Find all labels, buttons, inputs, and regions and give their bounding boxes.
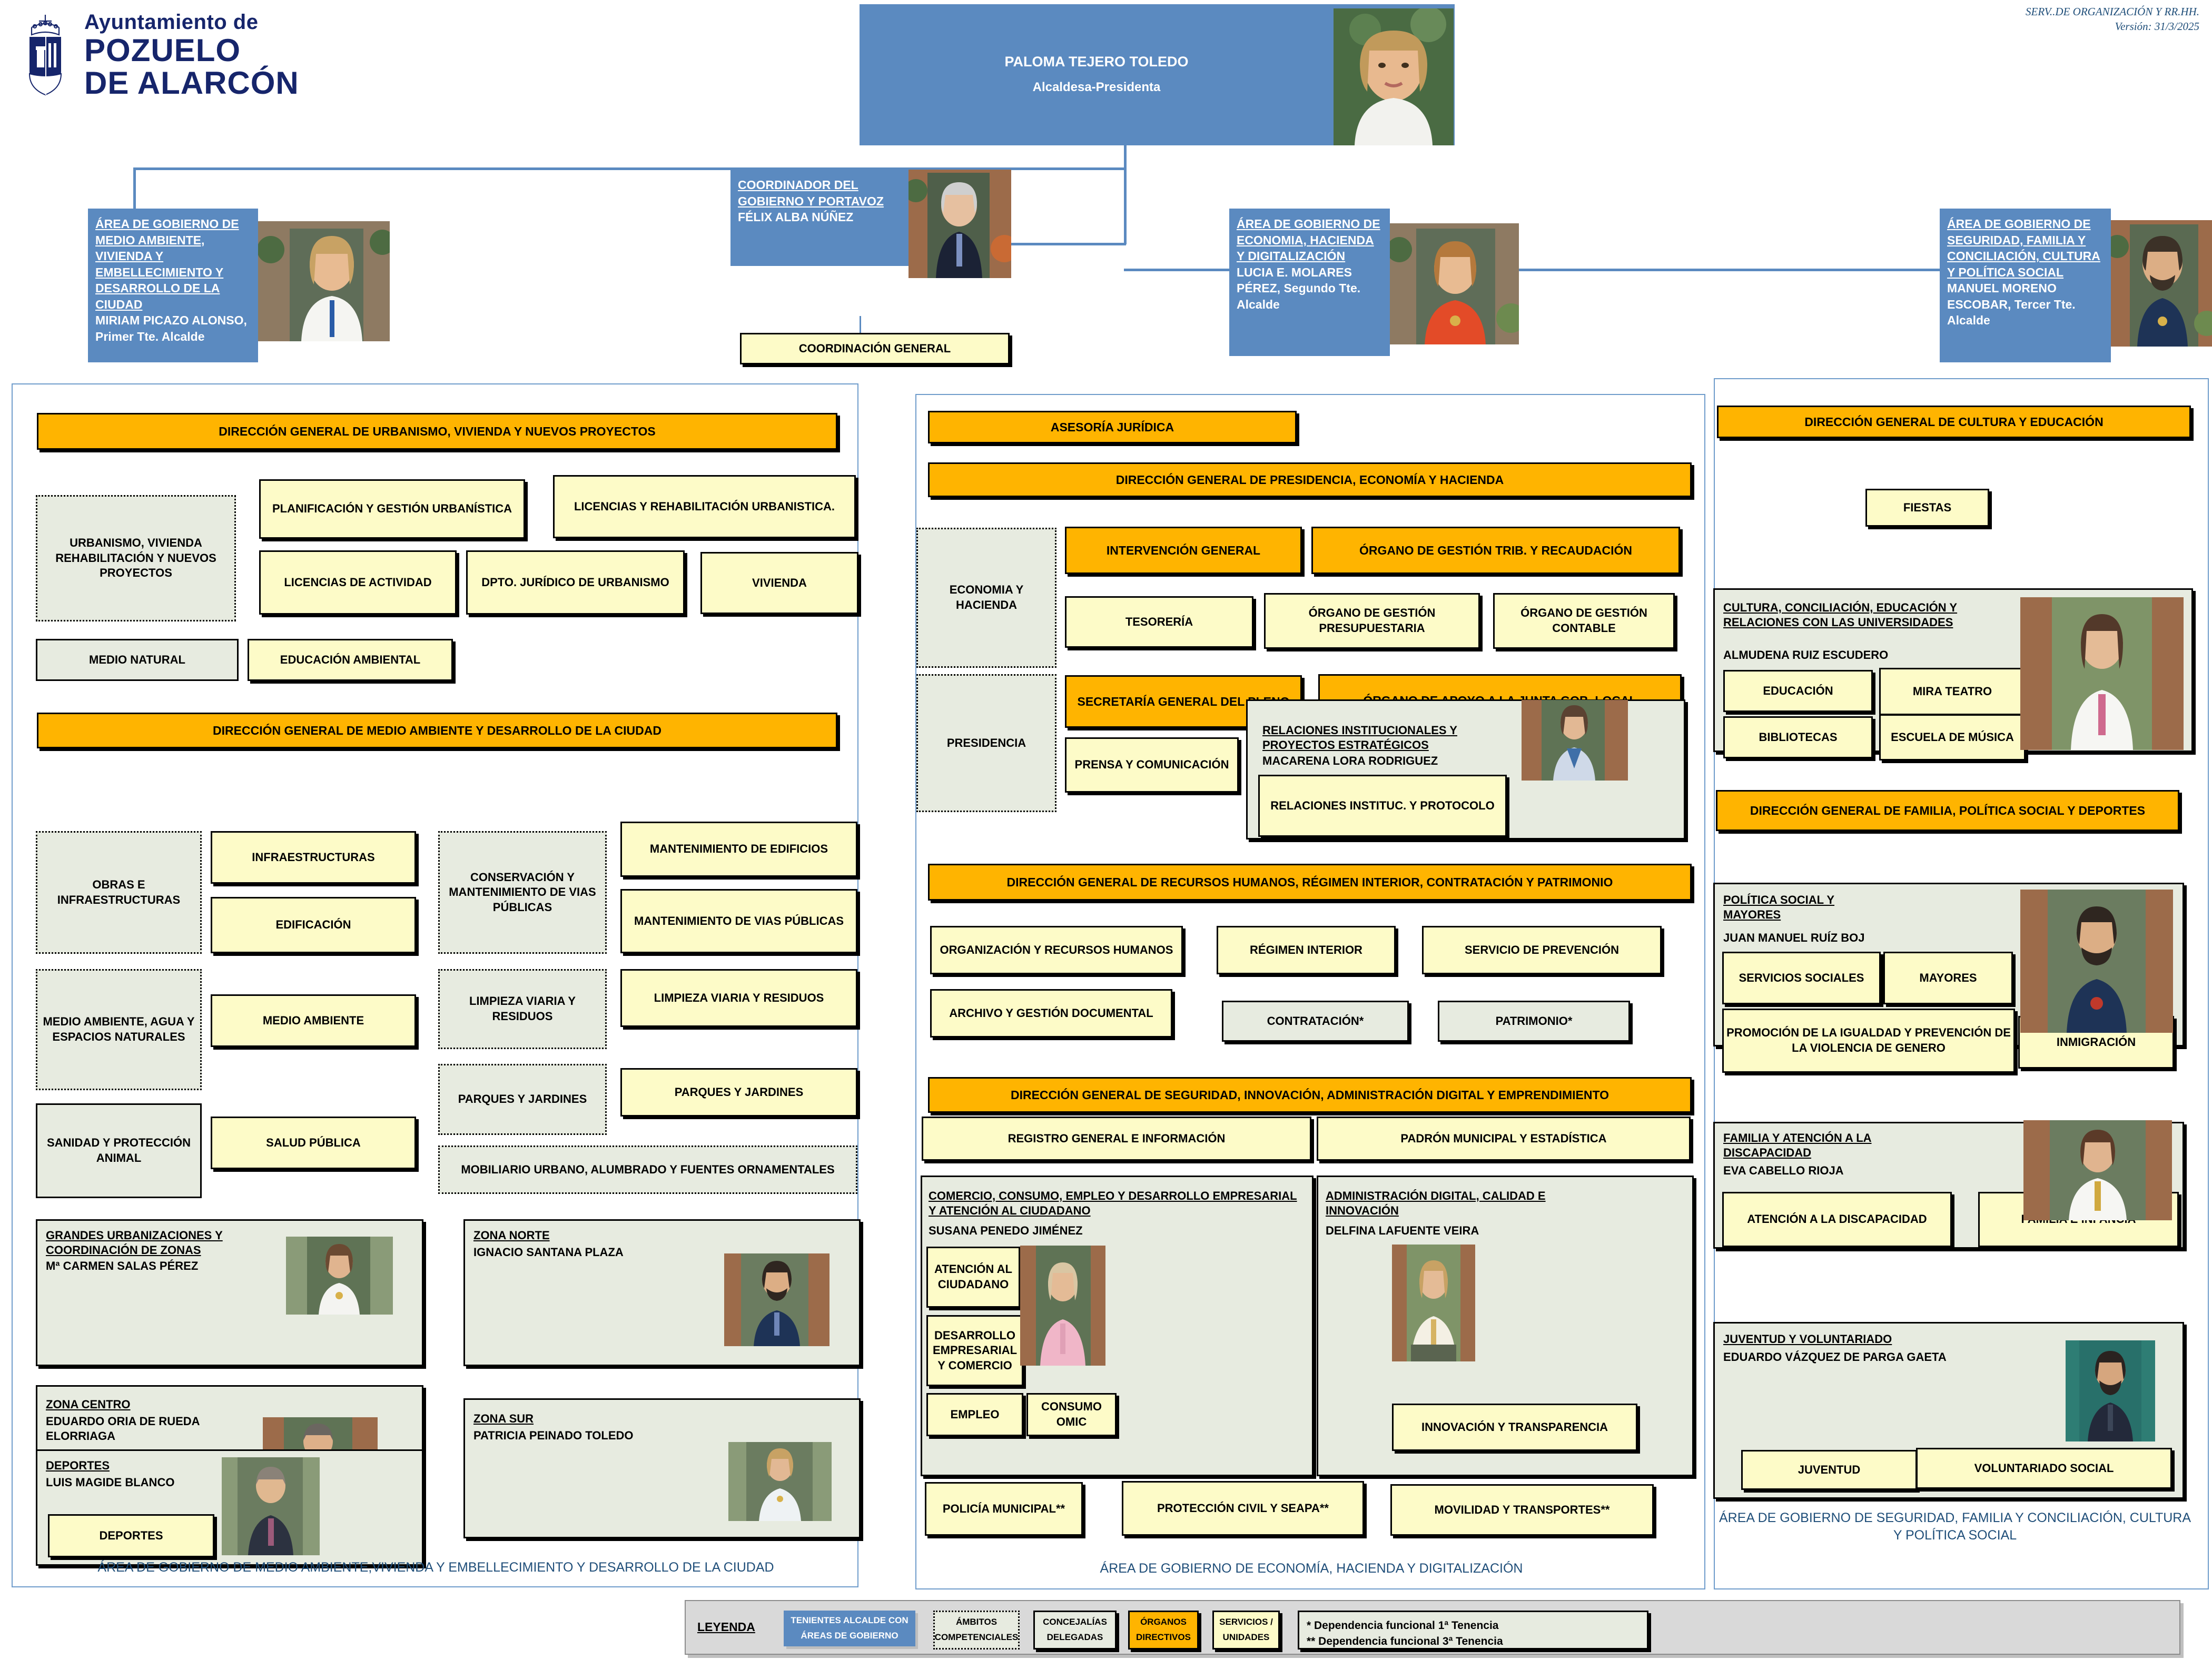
concejalia-admin-digital-photo <box>1392 1245 1475 1361</box>
concejalia-comercio-photo <box>1020 1246 1105 1366</box>
ambito-parques-jardines: PARQUES Y JARDINES <box>438 1064 607 1135</box>
unit-regimen-interior[interactable]: RÉGIMEN INTERIOR <box>1217 926 1396 974</box>
mayor-name: PALOMA TEJERO TOLEDO <box>860 48 1334 75</box>
unit-proteccion-civil[interactable]: PROTECCIÓN CIVIL Y SEAPA** <box>1122 1481 1364 1536</box>
concejalia-politica-social[interactable]: POLÍTICA SOCIAL Y MAYORES JUAN MANUEL RU… <box>1713 883 2184 1046</box>
portrait-placeholder-icon <box>2023 1120 2172 1220</box>
concejalia-deportes-photo <box>222 1457 320 1555</box>
concejalia-politica-social-title: POLÍTICA SOCIAL Y MAYORES <box>1723 893 1865 922</box>
portrait-placeholder-icon <box>258 221 390 341</box>
dg-urbanismo-header[interactable]: DIRECCIÓN GENERAL DE URBANISMO, VIVIENDA… <box>37 413 837 450</box>
legend-ambitos: ÁMBITOS COMPETENCIALES <box>933 1611 1020 1650</box>
unit-atencion-discapacidad[interactable]: ATENCIÓN A LA DISCAPACIDAD <box>1722 1192 1952 1247</box>
unit-educacion[interactable]: EDUCACIÓN <box>1723 670 1873 712</box>
unit-servicios-sociales[interactable]: SERVICIOS SOCIALES <box>1722 952 1881 1004</box>
concejalia-juventud-name: EDUARDO VÁZQUEZ DE PARGA GAETA <box>1723 1350 1947 1365</box>
unit-infraestructuras[interactable]: INFRAESTRUCTURAS <box>211 831 416 884</box>
dg-seguridad-header[interactable]: DIRECCIÓN GENERAL DE SEGURIDAD, INNOVACI… <box>928 1077 1692 1113</box>
unit-educacion-ambiental[interactable]: EDUCACIÓN AMBIENTAL <box>248 639 453 681</box>
dg-cultura-header[interactable]: DIRECCIÓN GENERAL DE CULTURA Y EDUCACIÓN <box>1717 406 2191 438</box>
dg-familia-header[interactable]: DIRECCIÓN GENERAL DE FAMILIA, POLÍTICA S… <box>1716 790 2179 831</box>
unit-archivo-gestion-documental[interactable]: ARCHIVO Y GESTIÓN DOCUMENTAL <box>930 989 1172 1038</box>
portrait-placeholder-icon <box>908 170 1011 278</box>
unit-gestion-presupuestaria[interactable]: ÓRGANO DE GESTIÓN PRESUPUESTARIA <box>1264 593 1480 649</box>
unit-limpieza-viaria[interactable]: LIMPIEZA VIARIA Y RESIDUOS <box>620 969 857 1027</box>
concejalia-relaciones-title: RELACIONES INSTITUCIONALES Y PROYECTOS E… <box>1262 723 1520 753</box>
concejalia-comercio-consumo[interactable]: COMERCIO, CONSUMO, EMPLEO Y DESARROLLO E… <box>921 1176 1314 1476</box>
logo-line2: POZUELO <box>84 35 299 66</box>
mayor-info: PALOMA TEJERO TOLEDO Alcaldesa-President… <box>860 48 1334 100</box>
unit-organizacion-rrhh[interactable]: ORGANIZACIÓN Y RECURSOS HUMANOS <box>930 926 1183 974</box>
legend-organos: ÓRGANOS DIRECTIVOS <box>1128 1611 1199 1650</box>
brand-logo: Ayuntamiento de POZUELO DE ALARCÓN <box>16 12 299 99</box>
mayor-card: PALOMA TEJERO TOLEDO Alcaldesa-President… <box>860 4 1455 145</box>
unit-consumo-omic[interactable]: CONSUMO OMIC <box>1026 1393 1117 1436</box>
ambito-contratacion: CONTRATACIÓN* <box>1222 1001 1409 1042</box>
logo-line3: DE ALARCÓN <box>84 67 299 99</box>
portrait-placeholder-icon <box>222 1457 320 1555</box>
dg-rrhh-header[interactable]: DIRECCIÓN GENERAL DE RECURSOS HUMANOS, R… <box>928 864 1692 901</box>
unit-desarrollo-empresarial[interactable]: DESARROLLO EMPRESARIAL Y COMERCIO <box>926 1315 1023 1386</box>
portrait-placeholder-icon <box>2020 890 2173 1033</box>
concejalia-grandes-urb-name: Mª CARMEN SALAS PÉREZ <box>46 1259 278 1273</box>
area-economia-photo <box>1390 223 1519 344</box>
legend-tenientes: TENIENTES ALCALDE CON ÁREAS DE GOBIERNO <box>784 1611 915 1646</box>
unit-juventud[interactable]: JUVENTUD <box>1741 1450 1917 1490</box>
concejalia-grandes-urb-title: GRANDES URBANIZACIONES Y COORDINACIÓN DE… <box>46 1228 278 1258</box>
unit-parques-jardines[interactable]: PARQUES Y JARDINES <box>620 1068 857 1117</box>
concejalia-juventud-voluntariado[interactable]: JUVENTUD Y VOLUNTARIADO EDUARDO VÁZQUEZ … <box>1713 1322 2184 1499</box>
concejalia-deportes-container[interactable]: DEPORTES LUIS MAGIDE BLANCO DEPORTES <box>36 1449 423 1566</box>
concejalia-relaciones-name: MACARENA LORA RODRIGUEZ <box>1262 754 1438 768</box>
ambito-limpieza-viaria: LIMPIEZA VIARIA Y RESIDUOS <box>438 969 607 1049</box>
portrait-placeholder-icon <box>1334 8 1454 145</box>
area-medio-ambiente-photo <box>258 221 390 341</box>
concejalia-zona-norte-photo <box>724 1253 829 1346</box>
portrait-placeholder-icon <box>2020 597 2184 750</box>
ambito-patrimonio: PATRIMONIO* <box>1438 1001 1630 1042</box>
concejalia-cultura-name: ALMUDENA RUIZ ESCUDERO <box>1723 648 1888 663</box>
legend-servicios: SERVICIOS / UNIDADES <box>1212 1611 1280 1650</box>
ambito-medio-natural: MEDIO NATURAL <box>36 639 239 681</box>
area-coordinador-person: FÉLIX ALBA NÚÑEZ <box>738 209 903 225</box>
concejalia-familia-name: EVA CABELLO RIOJA <box>1723 1163 1844 1178</box>
unit-mantenimiento-vias[interactable]: MANTENIMIENTO DE VIAS PÚBLICAS <box>620 889 857 953</box>
unit-salud-publica[interactable]: SALUD PÚBLICA <box>211 1117 416 1169</box>
concejalia-cultura-photo <box>2020 597 2184 750</box>
portrait-placeholder-icon <box>1392 1245 1475 1361</box>
asesoria-juridica-header[interactable]: ASESORÍA JURÍDICA <box>928 411 1297 443</box>
unit-licencias-actividad[interactable]: LICENCIAS DE ACTIVIDAD <box>259 550 457 615</box>
unit-vivienda[interactable]: VIVIENDA <box>700 552 858 614</box>
unit-fiestas[interactable]: FIESTAS <box>1865 489 1989 527</box>
legend-panel: LEYENDA TENIENTES ALCALDE CON ÁREAS DE G… <box>685 1600 2180 1655</box>
area-medio-ambiente-card: ÁREA DE GOBIERNO DE MEDIO AMBIENTE, VIVI… <box>88 209 258 362</box>
logo-line1: Ayuntamiento de <box>84 12 299 33</box>
concejalia-zona-sur-photo <box>728 1442 832 1521</box>
ambito-conservacion-vias: CONSERVACIÓN Y MANTENIMIENTO DE VIAS PÚB… <box>438 831 607 954</box>
concejalia-politica-social-photo <box>2020 890 2173 1033</box>
area-economia-person: LUCIA E. MOLARES PÉREZ, Segundo Tte. Alc… <box>1237 264 1385 313</box>
unit-padron-municipal[interactable]: PADRÓN MUNICIPAL Y ESTADÍSTICA <box>1317 1117 1691 1161</box>
concejalia-familia-discapacidad[interactable]: FAMILIA Y ATENCIÓN A LA DISCAPACIDAD EVA… <box>1713 1122 2184 1249</box>
concejalia-admin-digital-name: DELFINA LAFUENTE VEIRA <box>1326 1223 1479 1238</box>
portrait-placeholder-icon <box>286 1237 393 1315</box>
concejalia-zona-centro-title: ZONA CENTRO <box>46 1397 131 1412</box>
ambito-presidencia: PRESIDENCIA <box>916 674 1056 812</box>
concejalia-familia-photo <box>2023 1120 2172 1220</box>
concejalia-juventud-photo <box>2066 1340 2155 1441</box>
portrait-placeholder-icon <box>728 1442 832 1521</box>
unit-servicio-prevencion[interactable]: SERVICIO DE PREVENCIÓN <box>1422 926 1662 974</box>
concejalia-zona-sur-title: ZONA SUR <box>473 1411 534 1426</box>
unit-innovacion-transparencia[interactable]: INNOVACIÓN Y TRANSPARENCIA <box>1392 1404 1637 1451</box>
area-seguridad-person: MANUEL MORENO ESCOBAR, Tercer Tte. Alcal… <box>1947 280 2106 329</box>
unit-bibliotecas[interactable]: BIBLIOTECAS <box>1723 716 1873 758</box>
legend-notes: * Dependencia funcional 1ª Tenencia ** D… <box>1298 1611 1648 1650</box>
area-coordinador-photo <box>908 170 1011 278</box>
concejalia-deportes-title: DEPORTES <box>46 1458 110 1473</box>
unit-relaciones-protocolo[interactable]: RELACIONES INSTITUC. Y PROTOCOLO <box>1258 775 1507 837</box>
organo-intervencion-general[interactable]: INTERVENCIÓN GENERAL <box>1065 527 1302 574</box>
area-seguridad-photo <box>2111 220 2212 347</box>
concejalia-zona-sur-name: PATRICIA PEINADO TOLEDO <box>473 1428 634 1443</box>
portrait-placeholder-icon <box>724 1253 829 1346</box>
unit-dpto-juridico-urbanismo[interactable]: DPTO. JURÍDICO DE URBANISMO <box>466 550 685 615</box>
concejalia-admin-digital-title: ADMINISTRACIÓN DIGITAL, CALIDAD E INNOVA… <box>1326 1189 1568 1218</box>
unit-mantenimiento-edificios[interactable]: MANTENIMIENTO DE EDIFICIOS <box>620 822 857 877</box>
concejalia-grandes-urbanizaciones[interactable]: GRANDES URBANIZACIONES Y COORDINACIÓN DE… <box>36 1219 423 1366</box>
unit-tesoreria[interactable]: TESORERÍA <box>1065 596 1253 648</box>
unit-medio-ambiente[interactable]: MEDIO AMBIENTE <box>211 994 416 1047</box>
mayor-photo <box>1334 8 1454 145</box>
legend-label: LEYENDA <box>697 1620 755 1634</box>
ambito-economia-hacienda: ECONOMIA Y HACIENDA <box>916 528 1056 668</box>
portrait-placeholder-icon <box>1522 700 1628 781</box>
unit-mayores[interactable]: MAYORES <box>1883 952 2013 1004</box>
unit-edificacion[interactable]: EDIFICACIÓN <box>211 897 416 953</box>
area-coordinador-card: COORDINADOR DEL GOBIERNO Y PORTAVOZ FÉLI… <box>730 170 908 266</box>
portrait-placeholder-icon <box>1020 1246 1105 1366</box>
area-medio-ambiente-person: MIRIAM PICAZO ALONSO, Primer Tte. Alcald… <box>95 312 253 344</box>
ambito-medio-ambiente-agua: MEDIO AMBIENTE, AGUA Y ESPACIOS NATURALE… <box>36 969 202 1090</box>
legend-concejalias: CONCEJALÍAS DELEGADAS <box>1033 1611 1117 1650</box>
concejalia-relaciones-institucionales[interactable]: RELACIONES INSTITUCIONALES Y PROYECTOS E… <box>1246 699 1685 840</box>
unit-voluntariado-social[interactable]: VOLUNTARIADO SOCIAL <box>1916 1448 2172 1489</box>
coordinacion-general-unit[interactable]: COORDINACIÓN GENERAL <box>740 333 1010 364</box>
unit-gestion-contable[interactable]: ÓRGANO DE GESTIÓN CONTABLE <box>1493 593 1675 649</box>
concejalia-comercio-name: SUSANA PENEDO JIMÉNEZ <box>929 1223 1083 1238</box>
ambito-mobiliario-urbano: MOBILIARIO URBANO, ALUMBRADO Y FUENTES O… <box>438 1145 857 1194</box>
portrait-placeholder-icon <box>1390 223 1519 344</box>
area-coordinador-title: COORDINADOR DEL GOBIERNO Y PORTAVOZ <box>738 177 903 209</box>
legend-note-2: ** Dependencia funcional 3ª Tenencia <box>1307 1632 1503 1651</box>
unit-prensa-comunicacion[interactable]: PRENSA Y COMUNICACIÓN <box>1065 737 1239 793</box>
version-date: Versión: 31/3/2025 <box>2026 19 2199 34</box>
concejalia-zona-norte[interactable]: ZONA NORTE IGNACIO SANTANA PLAZA <box>463 1219 861 1366</box>
concejalia-zona-norte-title: ZONA NORTE <box>473 1228 550 1243</box>
pozuelo-crest-icon <box>16 12 75 98</box>
unit-policia-municipal[interactable]: POLICÍA MUNICIPAL** <box>925 1482 1083 1536</box>
concejalia-cultura-educacion[interactable]: CULTURA, CONCILIACIÓN, EDUCACIÓN Y RELAC… <box>1713 588 2193 752</box>
area-economia-card: ÁREA DE GOBIERNO DE ECONOMIA, HACIENDA Y… <box>1229 209 1390 356</box>
concejalia-zona-centro-name: EDUARDO ORIA DE RUEDA ELORRIAGA <box>46 1414 256 1444</box>
concejalia-zona-norte-name: IGNACIO SANTANA PLAZA <box>473 1245 624 1260</box>
area-medio-ambiente-title: ÁREA DE GOBIERNO DE MEDIO AMBIENTE, VIVI… <box>95 216 253 312</box>
unit-deportes[interactable]: DEPORTES <box>48 1514 214 1557</box>
dg-medio-ambiente-header[interactable]: DIRECCIÓN GENERAL DE MEDIO AMBIENTE Y DE… <box>37 713 837 748</box>
ambito-obras-infraestructuras: OBRAS E INFRAESTRUCTURAS <box>36 831 202 954</box>
unit-promocion-igualdad[interactable]: PROMOCIÓN DE LA IGUALDAD Y PREVENCIÓN DE… <box>1722 1009 2015 1073</box>
unit-planificacion-urbanistica[interactable]: PLANIFICACIÓN Y GESTIÓN URBANÍSTICA <box>259 479 525 539</box>
concejalia-cultura-title: CULTURA, CONCILIACIÓN, EDUCACIÓN Y RELAC… <box>1723 600 2018 630</box>
ambito-urbanismo: URBANISMO, VIVIENDA REHABILITACIÓN Y NUE… <box>36 495 236 621</box>
organo-gestion-tributaria[interactable]: ÓRGANO DE GESTIÓN TRIB. Y RECAUDACIÓN <box>1311 527 1680 574</box>
connector-to-coordinator <box>1124 167 1127 244</box>
concejalia-comercio-title: COMERCIO, CONSUMO, EMPLEO Y DESARROLLO E… <box>929 1189 1297 1218</box>
concejalia-juventud-title: JUVENTUD Y VOLUNTARIADO <box>1723 1332 1892 1347</box>
area-seguridad-card: ÁREA DE GOBIERNO DE SEGURIDAD, FAMILIA Y… <box>1940 209 2111 362</box>
footer-mid: ÁREA DE GOBIERNO DE ECONOMÍA, HACIENDA Y… <box>927 1560 1696 1577</box>
concejalia-grandes-urb-photo <box>286 1237 393 1315</box>
version-service: SERV..DE ORGANIZACIÓN Y RR.HH. <box>2026 4 2199 19</box>
portrait-placeholder-icon <box>2066 1340 2155 1441</box>
concejalia-politica-social-name: JUAN MANUEL RUÍZ BOJ <box>1723 931 1865 945</box>
mayor-role: Alcaldesa-Presidenta <box>860 75 1334 100</box>
concejalia-administracion-digital[interactable]: ADMINISTRACIÓN DIGITAL, CALIDAD E INNOVA… <box>1317 1176 1694 1476</box>
area-economia-title: ÁREA DE GOBIERNO DE ECONOMIA, HACIENDA Y… <box>1237 216 1385 264</box>
version-info: SERV..DE ORGANIZACIÓN Y RR.HH. Versión: … <box>2026 4 2199 34</box>
ambito-sanidad-proteccion-animal: SANIDAD Y PROTECCIÓN ANIMAL <box>36 1103 202 1198</box>
area-seguridad-title: ÁREA DE GOBIERNO DE SEGURIDAD, FAMILIA Y… <box>1947 216 2106 280</box>
unit-atencion-ciudadano[interactable]: ATENCIÓN AL CIUDADANO <box>926 1247 1020 1308</box>
concejalia-deportes-name: LUIS MAGIDE BLANCO <box>46 1475 174 1490</box>
unit-mira-teatro[interactable]: MIRA TEATRO <box>1879 668 2026 715</box>
connector-trunk-v <box>1124 145 1127 170</box>
concejalia-zona-sur[interactable]: ZONA SUR PATRICIA PEINADO TOLEDO <box>463 1398 861 1538</box>
unit-licencias-rehabilitacion[interactable]: LICENCIAS Y REHABILITACIÓN URBANISTICA. <box>553 475 856 538</box>
unit-registro-general[interactable]: REGISTRO GENERAL E INFORMACIÓN <box>922 1117 1311 1161</box>
unit-movilidad-transportes[interactable]: MOVILIDAD Y TRANSPORTES** <box>1390 1484 1654 1536</box>
footer-right: ÁREA DE GOBIERNO DE SEGURIDAD, FAMILIA Y… <box>1718 1509 2192 1544</box>
portrait-placeholder-icon <box>2111 220 2212 347</box>
concejalia-relaciones-photo <box>1522 700 1628 781</box>
dg-presidencia-header[interactable]: DIRECCIÓN GENERAL DE PRESIDENCIA, ECONOM… <box>928 462 1692 497</box>
unit-escuela-musica[interactable]: ESCUELA DE MÚSICA <box>1879 714 2026 761</box>
unit-empleo[interactable]: EMPLEO <box>926 1393 1023 1436</box>
concejalia-familia-title: FAMILIA Y ATENCIÓN A LA DISCAPACIDAD <box>1723 1131 1897 1160</box>
footer-left: ÁREA DE GOBIERNO DE MEDIO AMBIENTE,VIVIE… <box>21 1559 851 1576</box>
ambito-obras-label: OBRAS E INFRAESTRUCTURAS <box>40 877 197 907</box>
